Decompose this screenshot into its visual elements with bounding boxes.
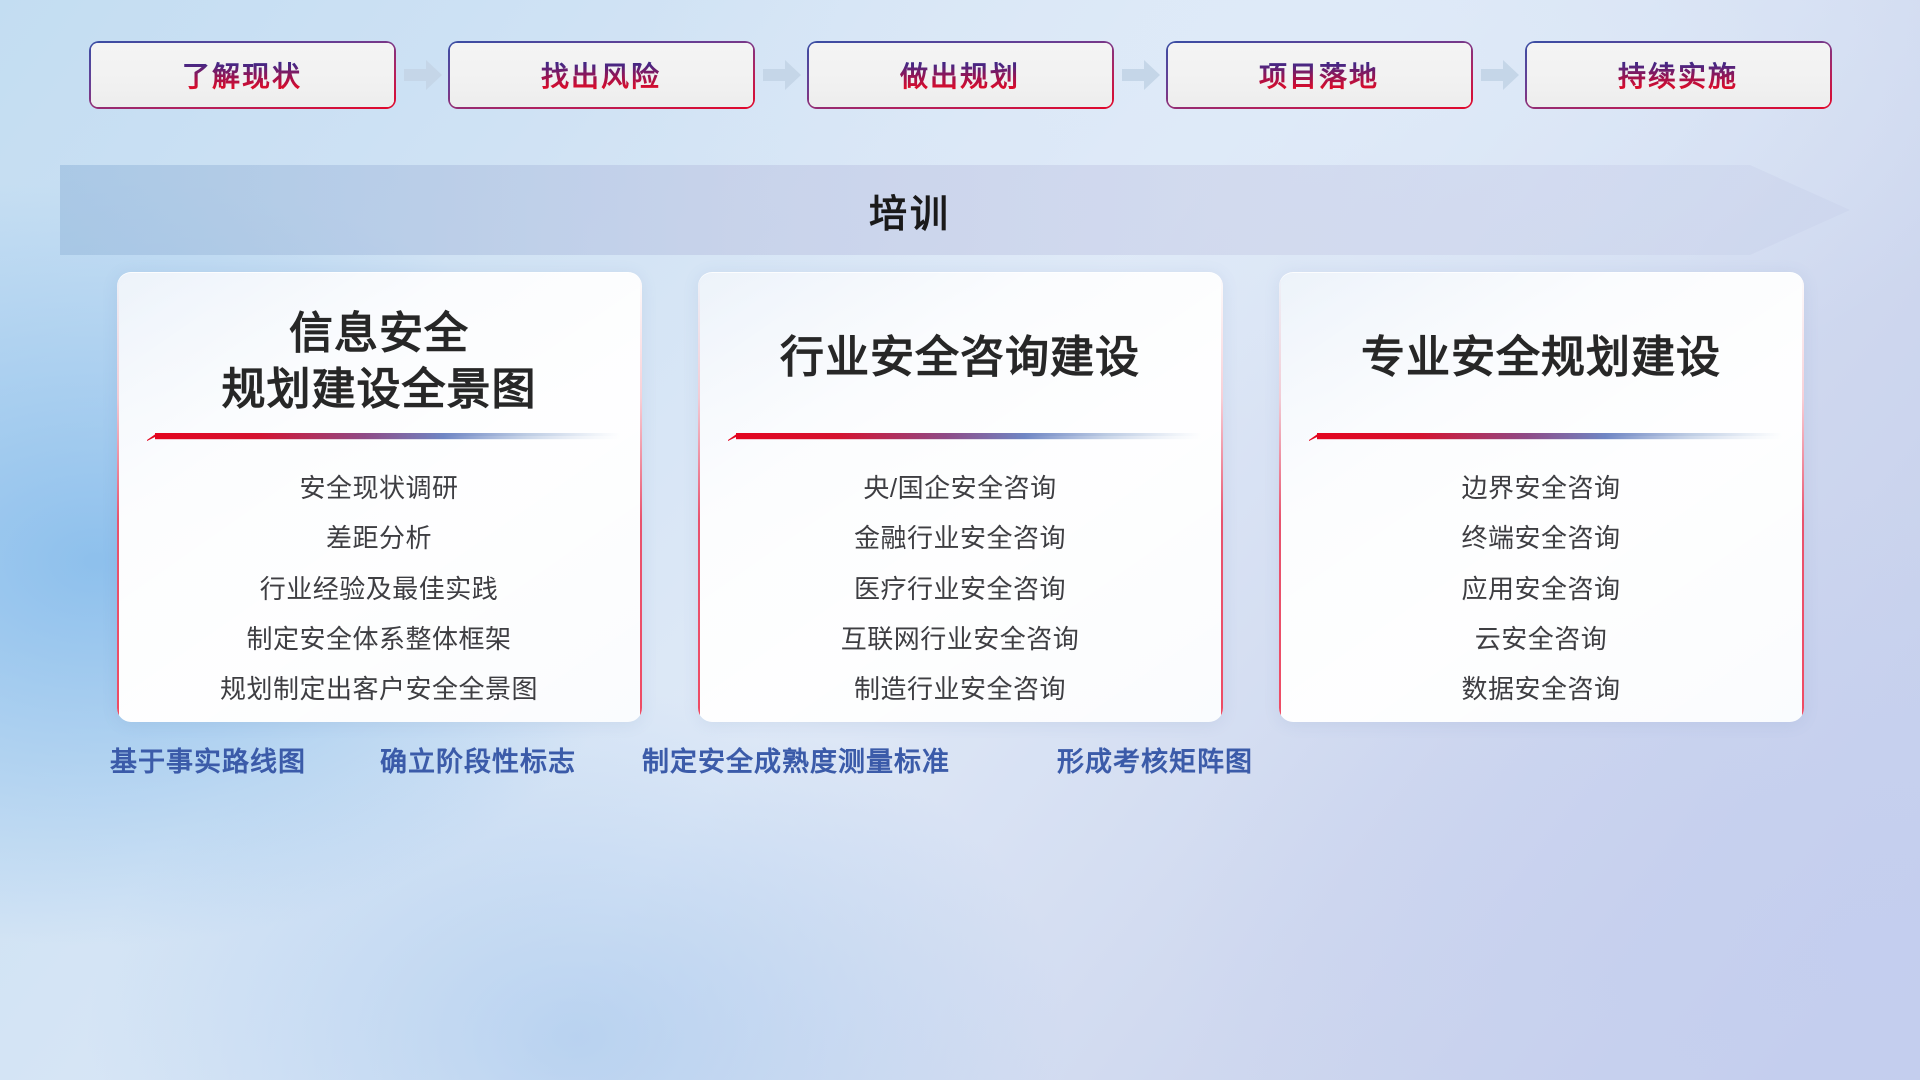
process-steps-row: 了解现状 找出风险 做出规划 项目落地 持续实施 [0, 0, 1920, 150]
arrow-right-icon [396, 41, 448, 109]
step-label-5: 持续实施 [1618, 55, 1738, 95]
card-1-title-line-2: 规划建设全景图 [117, 362, 642, 418]
list-item: 云安全咨询 [1475, 619, 1608, 659]
card-3-divider [1309, 432, 1782, 442]
step-box-5[interactable]: 持续实施 [1525, 41, 1832, 109]
arrow-right-icon [755, 41, 807, 109]
training-banner: 培训 [60, 165, 1850, 255]
step-label-4: 项目落地 [1259, 55, 1379, 95]
step-box-4[interactable]: 项目落地 [1166, 41, 1473, 109]
banner-label: 培训 [60, 165, 1760, 255]
list-item: 规划制定出客户安全全景图 [220, 669, 538, 709]
list-item: 差距分析 [326, 518, 432, 558]
list-item: 央/国企安全咨询 [863, 468, 1056, 508]
card-2-title: 行业安全咨询建设 [698, 330, 1223, 386]
card-3-title: 专业安全规划建设 [1279, 330, 1804, 386]
step-box-3[interactable]: 做出规划 [807, 41, 1114, 109]
list-item: 制定安全体系整体框架 [246, 619, 511, 659]
cards-row: 信息安全 规划建设全景图 安全现状调 [0, 272, 1920, 722]
card-3-list: 边界安全咨询 终端安全咨询 应用安全咨询 云安全咨询 数据安全咨询 [1279, 468, 1804, 709]
list-item: 安全现状调研 [299, 468, 458, 508]
arrow-right-icon [1114, 41, 1166, 109]
card-3-title-line-1: 专业安全规划建设 [1279, 330, 1804, 386]
card-2[interactable]: 行业安全咨询建设 央/国企安全咨询 [698, 272, 1223, 722]
footer-labels-row: 基于事实路线图 确立阶段性标志 制定安全成熟度测量标准 形成考核矩阵图 [0, 740, 1920, 810]
footer-label-4: 形成考核矩阵图 [1057, 740, 1253, 779]
step-label-1: 了解现状 [182, 55, 302, 95]
card-1-title-line-1: 信息安全 [117, 306, 642, 362]
footer-label-3: 制定安全成熟度测量标准 [642, 740, 950, 779]
list-item: 制造行业安全咨询 [854, 669, 1066, 709]
step-label-3: 做出规划 [900, 55, 1020, 95]
card-1-divider [147, 432, 620, 442]
list-item: 应用安全咨询 [1461, 569, 1620, 609]
card-2-divider [728, 432, 1201, 442]
list-item: 终端安全咨询 [1461, 518, 1620, 558]
card-2-title-line-1: 行业安全咨询建设 [698, 330, 1223, 386]
list-item: 边界安全咨询 [1461, 468, 1620, 508]
list-item: 行业经验及最佳实践 [260, 569, 499, 609]
card-2-list: 央/国企安全咨询 金融行业安全咨询 医疗行业安全咨询 互联网行业安全咨询 制造行… [698, 468, 1223, 709]
footer-label-2: 确立阶段性标志 [380, 740, 576, 779]
card-1-title: 信息安全 规划建设全景图 [117, 306, 642, 419]
list-item: 数据安全咨询 [1461, 669, 1620, 709]
card-1[interactable]: 信息安全 规划建设全景图 安全现状调 [117, 272, 642, 722]
card-1-list: 安全现状调研 差距分析 行业经验及最佳实践 制定安全体系整体框架 规划制定出客户… [117, 468, 642, 709]
arrow-right-icon [1473, 41, 1525, 109]
card-3[interactable]: 专业安全规划建设 边界安全咨询 终端 [1279, 272, 1804, 722]
step-box-2[interactable]: 找出风险 [448, 41, 755, 109]
step-label-2: 找出风险 [541, 55, 661, 95]
list-item: 医疗行业安全咨询 [854, 569, 1066, 609]
step-box-1[interactable]: 了解现状 [89, 41, 396, 109]
list-item: 金融行业安全咨询 [854, 518, 1066, 558]
list-item: 互联网行业安全咨询 [841, 619, 1080, 659]
footer-label-1: 基于事实路线图 [110, 740, 306, 779]
